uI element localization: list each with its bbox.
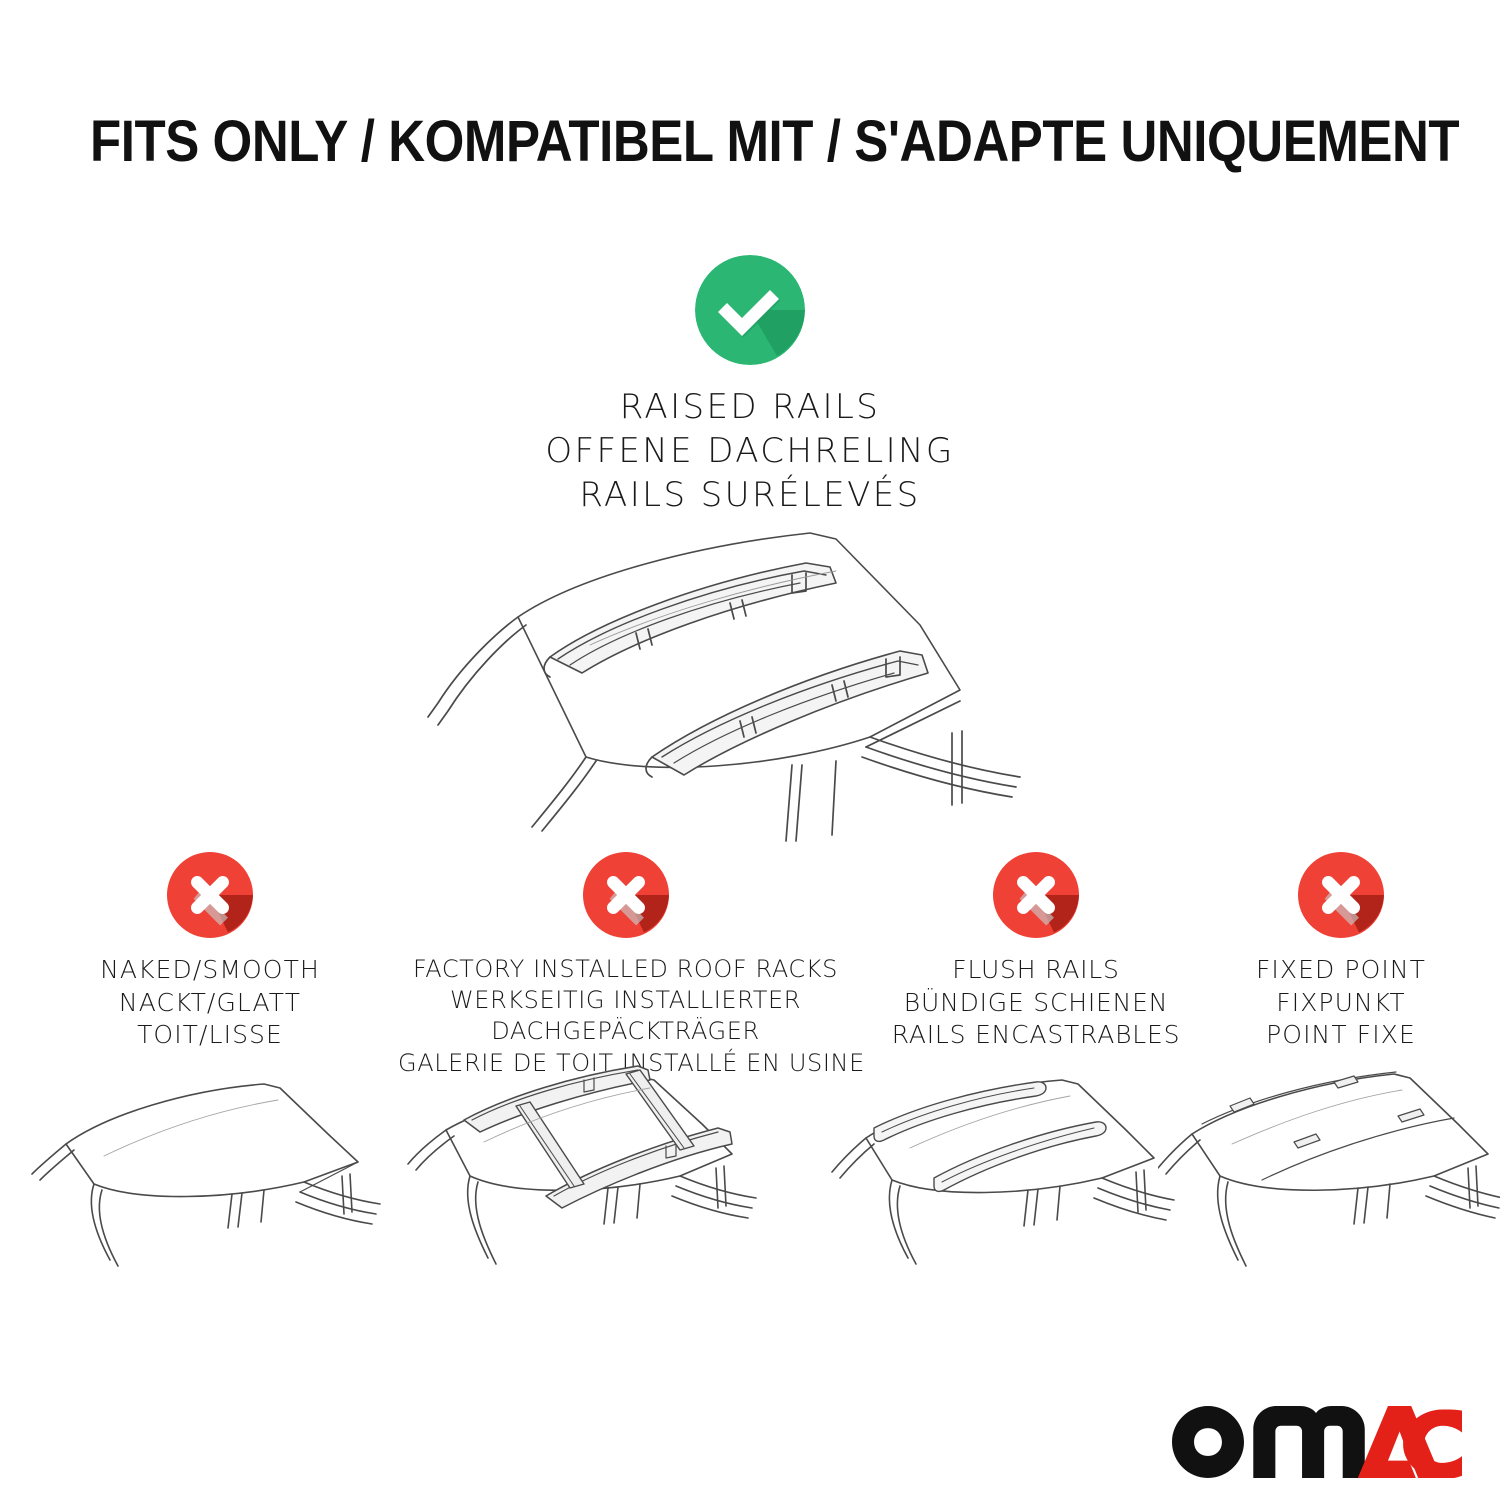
label-en: FLUSH RAILS — [872, 954, 1200, 987]
fitment-guide-page: FITS ONLY / KOMPATIBEL MIT / S'ADAPTE UN… — [0, 0, 1500, 1500]
x-circle-icon — [583, 852, 669, 938]
label-fr: POINT FIXE — [1212, 1019, 1470, 1052]
approved-label: RAISED RAILS OFFENE DACHRELING RAILS SUR… — [0, 385, 1500, 518]
label-fr: RAILS ENCASTRABLES — [872, 1019, 1200, 1052]
approved-label-de: OFFENE DACHRELING — [0, 429, 1500, 473]
incompatible-item-factory-roof-racks: FACTORY INSTALLED ROOF RACKS WERKSEITIG … — [398, 852, 853, 1079]
car-roof-naked-smooth-illustration — [28, 1062, 388, 1292]
incompatible-item-flush-rails: FLUSH RAILS BÜNDIGE SCHIENEN RAILS ENCAS… — [872, 852, 1200, 1052]
page-title: FITS ONLY / KOMPATIBEL MIT / S'ADAPTE UN… — [90, 108, 1410, 175]
check-circle-icon — [695, 255, 805, 365]
incompatible-label-factory-roof-racks: FACTORY INSTALLED ROOF RACKS WERKSEITIG … — [398, 954, 853, 1079]
label-en: FIXED POINT — [1212, 954, 1470, 987]
label-de: NACKT/GLATT — [55, 987, 365, 1020]
incompatible-illustration-row — [0, 1062, 1500, 1302]
label-fr: TOIT/LISSE — [55, 1019, 365, 1052]
label-en: NAKED/SMOOTH — [55, 954, 365, 987]
incompatible-row: NAKED/SMOOTH NACKT/GLATT TOIT/LISSE FA — [0, 852, 1500, 1082]
incompatible-label-fixed-point: FIXED POINT FIXPUNKT POINT FIXE — [1212, 954, 1470, 1052]
car-roof-fixed-point-illustration — [1158, 1062, 1500, 1292]
incompatible-item-naked-smooth: NAKED/SMOOTH NACKT/GLATT TOIT/LISSE — [55, 852, 365, 1052]
car-roof-factory-roof-racks-illustration — [398, 1062, 773, 1292]
x-circle-icon — [167, 852, 253, 938]
check-circle-disc — [695, 255, 805, 365]
label-en: FACTORY INSTALLED ROOF RACKS — [398, 954, 853, 985]
omac-logo — [1172, 1406, 1462, 1478]
label-de: FIXPUNKT — [1212, 987, 1470, 1020]
car-roof-raised-rails-illustration — [400, 505, 1120, 845]
incompatible-label-naked-smooth: NAKED/SMOOTH NACKT/GLATT TOIT/LISSE — [55, 954, 365, 1052]
approved-label-en: RAISED RAILS — [0, 385, 1500, 429]
incompatible-item-fixed-point: FIXED POINT FIXPUNKT POINT FIXE — [1212, 852, 1470, 1052]
label-de: WERKSEITIG INSTALLIERTER — [398, 985, 853, 1016]
x-circle-icon — [993, 852, 1079, 938]
label-de-2: DACHGEPÄCKTRÄGER — [398, 1016, 853, 1047]
x-circle-icon — [1298, 852, 1384, 938]
logo-letter-o — [1172, 1406, 1244, 1478]
logo-letter-m — [1253, 1406, 1364, 1478]
approved-section: RAISED RAILS OFFENE DACHRELING RAILS SUR… — [0, 255, 1500, 518]
label-de: BÜNDIGE SCHIENEN — [872, 987, 1200, 1020]
incompatible-label-flush-rails: FLUSH RAILS BÜNDIGE SCHIENEN RAILS ENCAS… — [872, 954, 1200, 1052]
car-roof-flush-rails-illustration — [830, 1062, 1175, 1292]
